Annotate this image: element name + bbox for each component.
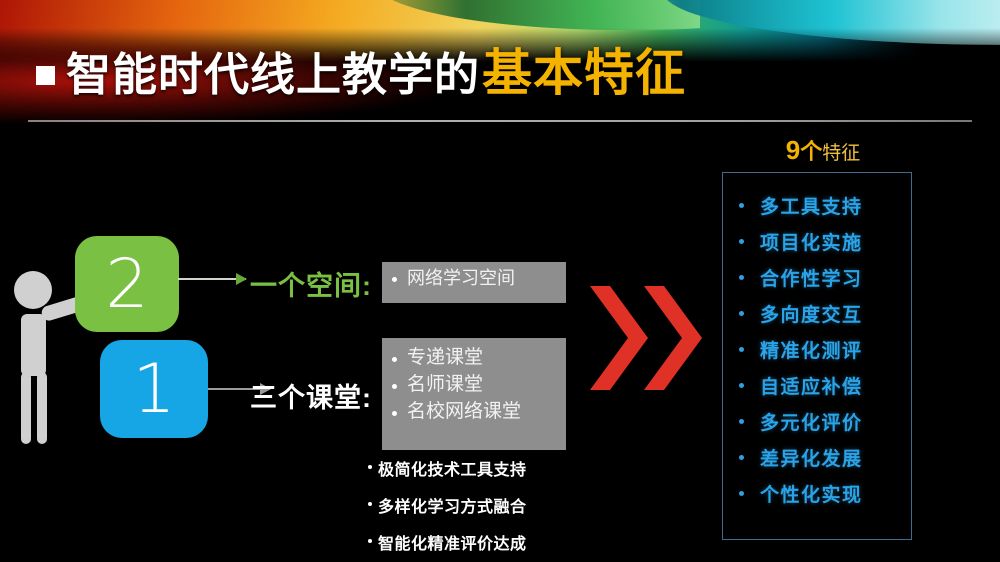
label-three-classrooms: 三个课堂:: [250, 376, 372, 415]
arrow-to-space-label: [178, 278, 246, 280]
title-square-icon: [36, 66, 55, 85]
feature-label: 多元化评价: [760, 408, 863, 435]
list-item-label: 专递课堂: [407, 345, 483, 372]
bullet-dot-icon: [739, 419, 744, 424]
list-item[interactable]: 差异化发展: [723, 439, 911, 475]
bullet-dot-icon: [739, 347, 744, 352]
title-text-primary: 智能时代线上教学的: [66, 52, 480, 97]
bullet-dot-icon: [392, 357, 397, 362]
bullet-dot-icon: [739, 311, 744, 316]
feature-label: 差异化发展: [760, 444, 863, 471]
list-item[interactable]: 自适应补偿: [723, 367, 911, 403]
list-item[interactable]: 项目化实施: [723, 223, 911, 259]
sub-bullet-list: 极简化技术工具支持 多样化学习方式融合 智能化精准评价达成: [368, 456, 598, 562]
feature-count: 9: [786, 135, 800, 165]
space-items-box: 网络学习空间: [382, 262, 566, 303]
card-two-green[interactable]: 2: [75, 236, 179, 332]
space-items-list: 网络学习空间: [392, 266, 556, 292]
double-chevron-right-icon: [588, 282, 708, 394]
list-item: 智能化精准评价达成: [368, 530, 598, 554]
list-item-label: 名校网络课堂: [407, 399, 521, 426]
list-item: 名校网络课堂: [392, 399, 556, 426]
bullet-dot-icon: [392, 277, 397, 282]
list-item[interactable]: 合作性学习: [723, 259, 911, 295]
list-item[interactable]: 个性化实现: [723, 475, 911, 511]
card-one-number: 1: [132, 350, 175, 429]
sub-bullet-label: 极简化技术工具支持: [378, 456, 527, 480]
bullet-dot-icon: [739, 383, 744, 388]
card-two-number: 2: [105, 245, 148, 324]
feature-label: 多工具支持: [760, 192, 863, 219]
features-panel: 多工具支持 项目化实施 合作性学习 多向度交互 精准化测评 自适应补偿 多元化评…: [722, 172, 912, 540]
feature-label: 合作性学习: [760, 264, 863, 291]
classroom-items-box: 专递课堂 名师课堂 名校网络课堂: [382, 338, 566, 450]
list-item[interactable]: 多元化评价: [723, 403, 911, 439]
list-item-label: 名师课堂: [407, 372, 483, 399]
slide-canvas: 智能时代线上教学的 基本特征 2 1 一个空间: 三个课堂:: [0, 0, 1000, 562]
card-one-blue[interactable]: 1: [100, 340, 208, 438]
bullet-dot-icon: [739, 455, 744, 460]
list-item-label: 网络学习空间: [407, 266, 515, 292]
bullet-dot-icon: [739, 491, 744, 496]
feature-label: 项目化实施: [760, 228, 863, 255]
feature-label: 多向度交互: [760, 300, 863, 327]
bullet-dot-icon: [392, 384, 397, 389]
list-item: 极简化技术工具支持: [368, 456, 598, 480]
page-title: 智能时代线上教学的 基本特征: [36, 48, 686, 98]
list-item[interactable]: 多工具支持: [723, 187, 911, 223]
title-divider: [28, 120, 972, 122]
title-text-highlight: 基本特征: [482, 48, 686, 98]
bullet-dot-icon: [739, 275, 744, 280]
feature-label: 个性化实现: [760, 480, 863, 507]
classroom-items-list: 专递课堂 名师课堂 名校网络课堂: [392, 345, 556, 426]
bullet-dot-icon: [739, 239, 744, 244]
feature-label: 自适应补偿: [760, 372, 863, 399]
bullet-dot-icon: [392, 411, 397, 416]
feature-unit: 个: [800, 139, 822, 164]
bullet-dot-icon: [368, 502, 372, 506]
sub-bullet-label: 多样化学习方式融合: [378, 493, 527, 517]
list-item[interactable]: 精准化测评: [723, 331, 911, 367]
list-item: 专递课堂: [392, 345, 556, 372]
sub-bullet-label: 智能化精准评价达成: [378, 530, 527, 554]
list-item[interactable]: 多向度交互: [723, 295, 911, 331]
list-item: 网络学习空间: [392, 266, 556, 292]
feature-word: 特征: [822, 143, 860, 164]
feature-label: 精准化测评: [760, 336, 863, 363]
arrow-head-icon: [236, 273, 247, 285]
nine-features-heading: 9个特征: [718, 134, 928, 166]
bullet-dot-icon: [368, 465, 372, 469]
list-item: 多样化学习方式融合: [368, 493, 598, 517]
bullet-dot-icon: [368, 539, 372, 543]
list-item: 名师课堂: [392, 372, 556, 399]
bullet-dot-icon: [739, 203, 744, 208]
label-one-space: 一个空间:: [250, 264, 372, 303]
